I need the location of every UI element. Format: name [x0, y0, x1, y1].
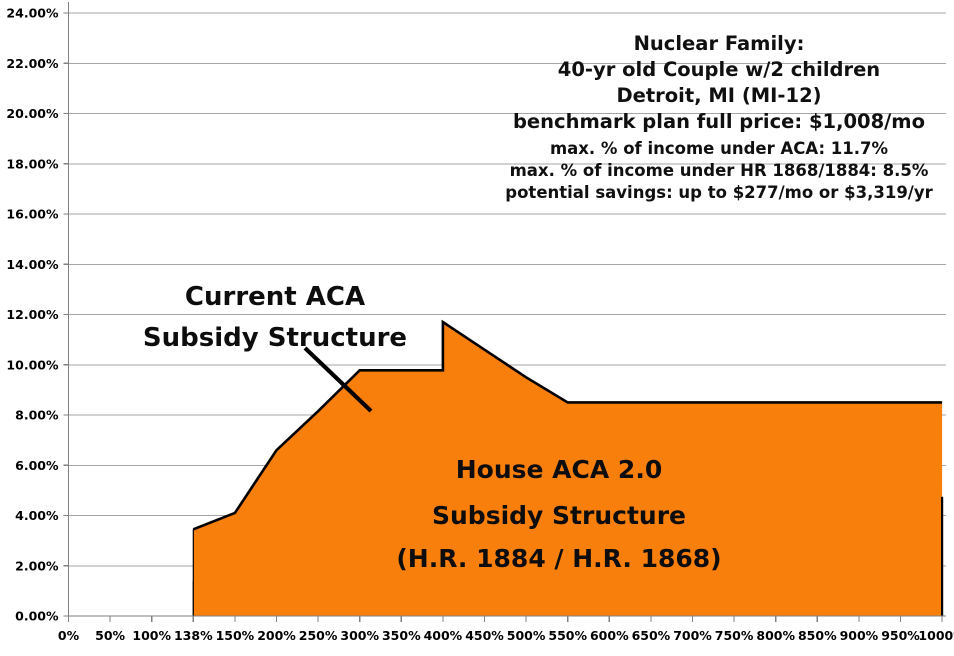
x-tick-label: 138%: [174, 628, 213, 643]
y-tick-label: 8.00%: [15, 408, 59, 423]
y-tick-label: 16.00%: [6, 207, 59, 222]
info-line: max. % of income under ACA: 11.7%: [550, 139, 889, 158]
x-tick-label: 800%: [756, 628, 795, 643]
x-tick-label: 0%: [58, 628, 80, 643]
y-tick-label: 20.00%: [6, 106, 59, 121]
y-tick-label: 6.00%: [15, 458, 59, 473]
x-tick-label: 600%: [590, 628, 629, 643]
x-tick-label: 550%: [548, 628, 587, 643]
x-tick-label: 900%: [840, 628, 879, 643]
x-tick-label: 650%: [632, 628, 671, 643]
x-tick-label: 200%: [257, 628, 296, 643]
y-tick-label: 22.00%: [6, 56, 59, 71]
info-line: potential savings: up to $277/mo or $3,3…: [505, 183, 933, 202]
x-tick-label: 400%: [424, 628, 463, 643]
house-aca-label-line2: Subsidy Structure: [432, 501, 686, 530]
y-tick-label: 4.00%: [15, 508, 59, 523]
x-tick-label: 750%: [715, 628, 754, 643]
x-tick-label: 700%: [673, 628, 712, 643]
info-line: benchmark plan full price: $1,008/mo: [513, 110, 925, 133]
x-tick-label: 1000%: [918, 628, 954, 643]
y-tick-label: 18.00%: [6, 156, 59, 171]
house-aca-label-line1: House ACA 2.0: [456, 455, 662, 484]
y-tick-label: 10.00%: [6, 357, 59, 372]
y-tick-label: 2.00%: [15, 558, 59, 573]
info-annotation-box: Nuclear Family:40-yr old Couple w/2 chil…: [505, 32, 933, 202]
info-line: max. % of income under HR 1868/1884: 8.5…: [510, 161, 929, 180]
area-chart: 0.00%2.00%4.00%6.00%8.00%10.00%12.00%14.…: [0, 0, 954, 656]
y-tick-label: 12.00%: [6, 307, 59, 322]
info-line: Detroit, MI (MI-12): [616, 84, 821, 107]
current-aca-label-line2: Subsidy Structure: [143, 323, 407, 353]
x-tick-label: 450%: [465, 628, 504, 643]
info-line: Nuclear Family:: [634, 32, 805, 55]
x-tick-label: 500%: [507, 628, 546, 643]
x-tick-label: 50%: [95, 628, 125, 643]
y-axis-tick-labels: 0.00%2.00%4.00%6.00%8.00%10.00%12.00%14.…: [6, 6, 59, 624]
x-tick-label: 100%: [132, 628, 171, 643]
y-tick-label: 14.00%: [6, 257, 59, 272]
x-tick-label: 950%: [881, 628, 920, 643]
x-tick-label: 300%: [340, 628, 379, 643]
chart-container: 0.00%2.00%4.00%6.00%8.00%10.00%12.00%14.…: [0, 0, 954, 656]
info-line: 40-yr old Couple w/2 children: [558, 58, 880, 81]
y-tick-label: 0.00%: [15, 609, 59, 624]
x-axis-tick-labels: 0%50%100%138%150%200%250%300%350%400%450…: [58, 628, 954, 643]
x-tick-label: 850%: [798, 628, 837, 643]
house-aca-label-line3: (H.R. 1884 / H.R. 1868): [396, 544, 721, 573]
x-tick-label: 250%: [299, 628, 338, 643]
current-aca-label: Current ACA Subsidy Structure: [143, 282, 407, 353]
x-tick-label: 350%: [382, 628, 421, 643]
current-aca-label-line1: Current ACA: [185, 282, 365, 312]
x-tick-label: 150%: [216, 628, 255, 643]
y-tick-label: 24.00%: [6, 6, 59, 21]
